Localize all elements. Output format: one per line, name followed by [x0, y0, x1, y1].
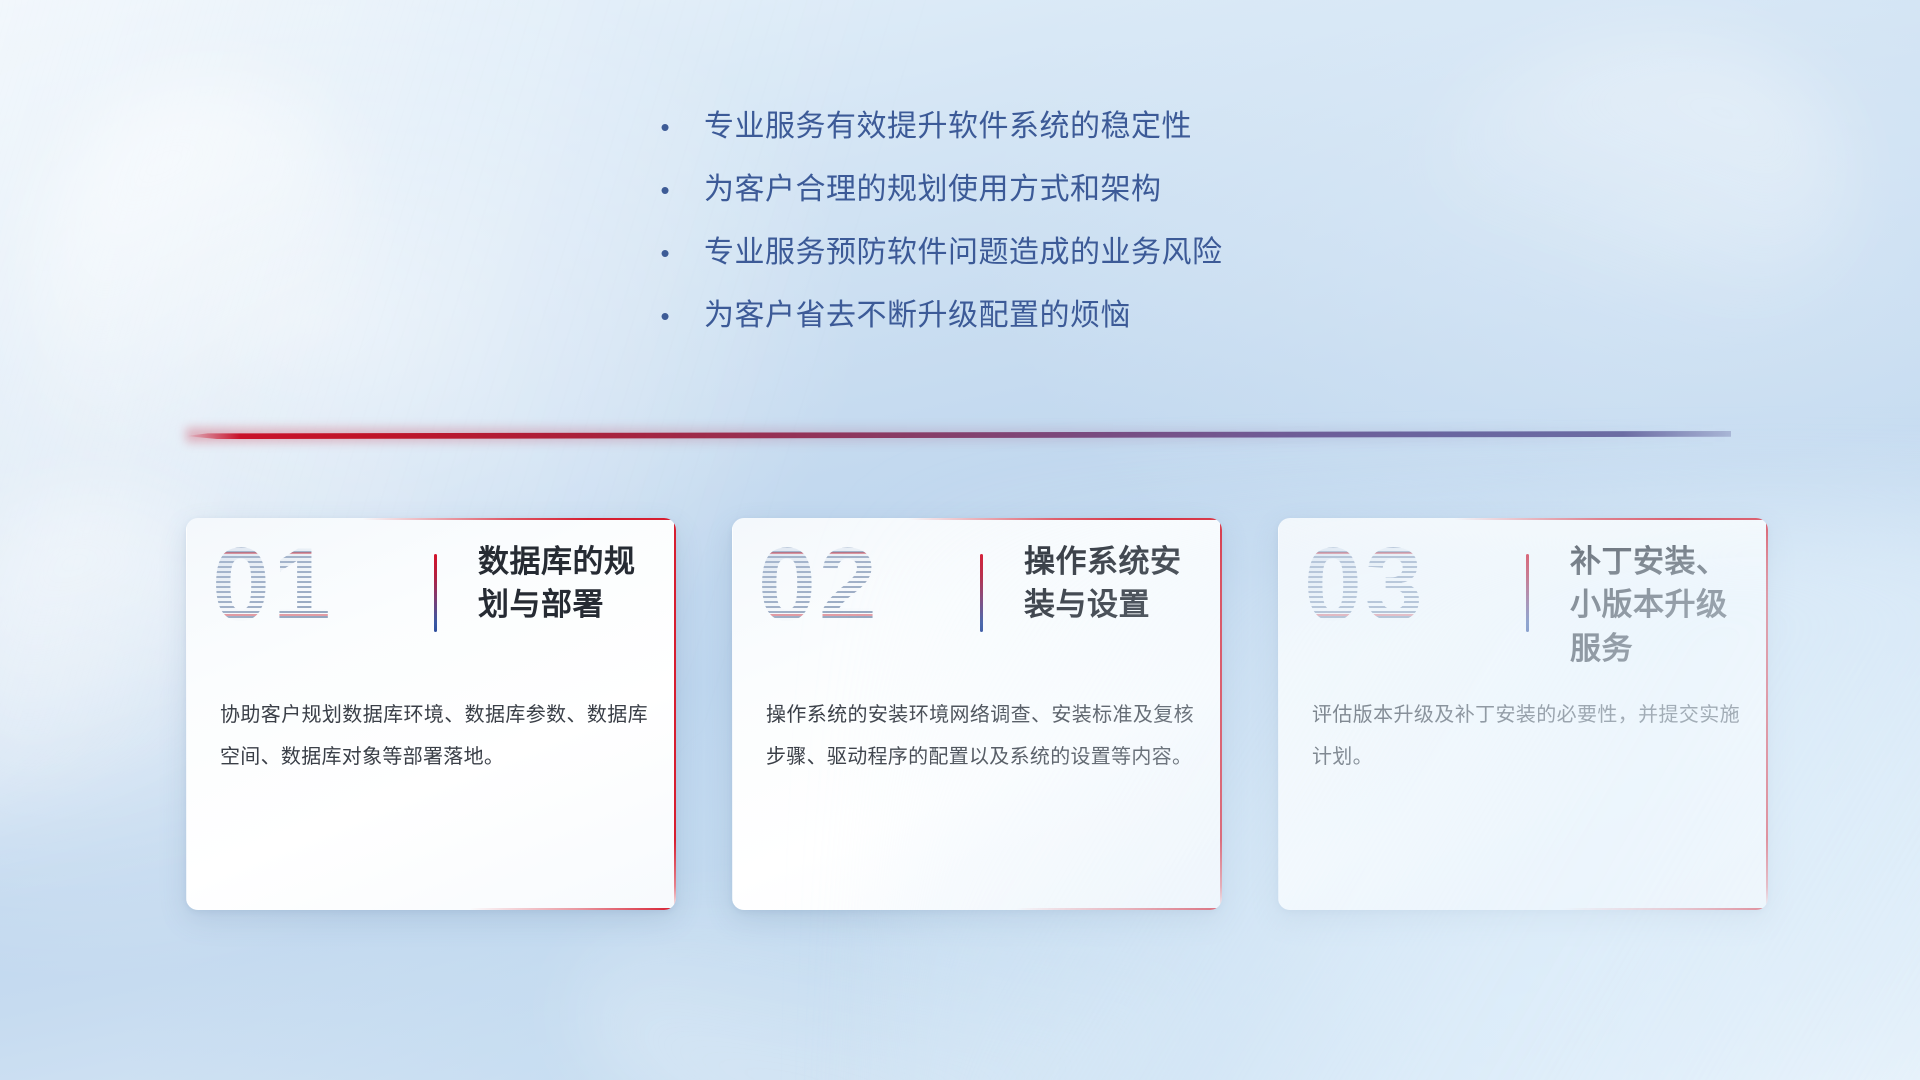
benefits-bullet-list: • 专业服务有效提升软件系统的稳定性 • 为客户合理的规划使用方式和架构 • 专… [660, 110, 1420, 362]
card-header: 01 01 01 数据库的规划与部署 [186, 518, 676, 670]
card-watermark-number: 03 03 03 [1304, 526, 1504, 646]
slide-canvas: • 专业服务有效提升软件系统的稳定性 • 为客户合理的规划使用方式和架构 • 专… [0, 0, 1920, 1080]
bullet-dot-icon: • [660, 114, 670, 140]
service-cards-row: 01 01 01 数据库的规划与部署 协助客户规划数据库环境、数据库参数、数据库… [186, 518, 1771, 910]
service-card-03[interactable]: 03 03 03 补丁安装、小版本升级服务 评估版本升级及补丁安装的必要性，并提… [1278, 518, 1768, 910]
card-title-divider-bar [980, 554, 983, 632]
card-title: 补丁安装、小版本升级服务 [1570, 540, 1756, 670]
service-card-01[interactable]: 01 01 01 数据库的规划与部署 协助客户规划数据库环境、数据库参数、数据库… [186, 518, 676, 910]
bullet-text: 为客户合理的规划使用方式和架构 [704, 173, 1162, 206]
card-title: 操作系统安装与设置 [1024, 540, 1210, 627]
list-item: • 专业服务预防软件问题造成的业务风险 [660, 236, 1420, 269]
card-body-text: 操作系统的安装环境网络调查、安装标准及复核步骤、驱动程序的配置以及系统的设置等内… [766, 694, 1194, 779]
service-card-02[interactable]: 02 02 02 操作系统安装与设置 操作系统的安装环境网络调查、安装标准及复核… [732, 518, 1222, 910]
card-header: 02 02 02 操作系统安装与设置 [732, 518, 1222, 670]
card-watermark-number: 02 02 02 [758, 526, 958, 646]
list-item: • 为客户省去不断升级配置的烦恼 [660, 299, 1420, 332]
card-watermark-number: 01 01 01 [212, 526, 412, 646]
bullet-dot-icon: • [660, 177, 670, 203]
card-edge-bottom-accent [1278, 908, 1768, 910]
section-divider-rule [186, 425, 1731, 445]
card-title-divider-bar [434, 554, 437, 632]
card-header: 03 03 03 补丁安装、小版本升级服务 [1278, 518, 1768, 670]
list-item: • 为客户合理的规划使用方式和架构 [660, 173, 1420, 206]
card-number-accent: 01 [212, 526, 334, 646]
bullet-text: 专业服务有效提升软件系统的稳定性 [704, 110, 1192, 143]
bullet-text: 为客户省去不断升级配置的烦恼 [704, 299, 1131, 332]
bullet-text: 专业服务预防软件问题造成的业务风险 [704, 236, 1223, 269]
card-title-divider-bar [1526, 554, 1529, 632]
list-item: • 专业服务有效提升软件系统的稳定性 [660, 110, 1420, 143]
card-title: 数据库的规划与部署 [478, 540, 664, 627]
card-number-accent: 02 [758, 526, 880, 646]
card-body-text: 协助客户规划数据库环境、数据库参数、数据库空间、数据库对象等部署落地。 [220, 694, 648, 779]
card-edge-bottom-accent [732, 908, 1222, 910]
card-number-accent: 03 [1304, 526, 1426, 646]
background-light-wisp-right-top [1423, 43, 1843, 343]
card-body-text: 评估版本升级及补丁安装的必要性，并提交实施计划。 [1312, 694, 1740, 779]
bullet-dot-icon: • [660, 240, 670, 266]
card-edge-bottom-accent [186, 908, 676, 910]
bullet-dot-icon: • [660, 303, 670, 329]
